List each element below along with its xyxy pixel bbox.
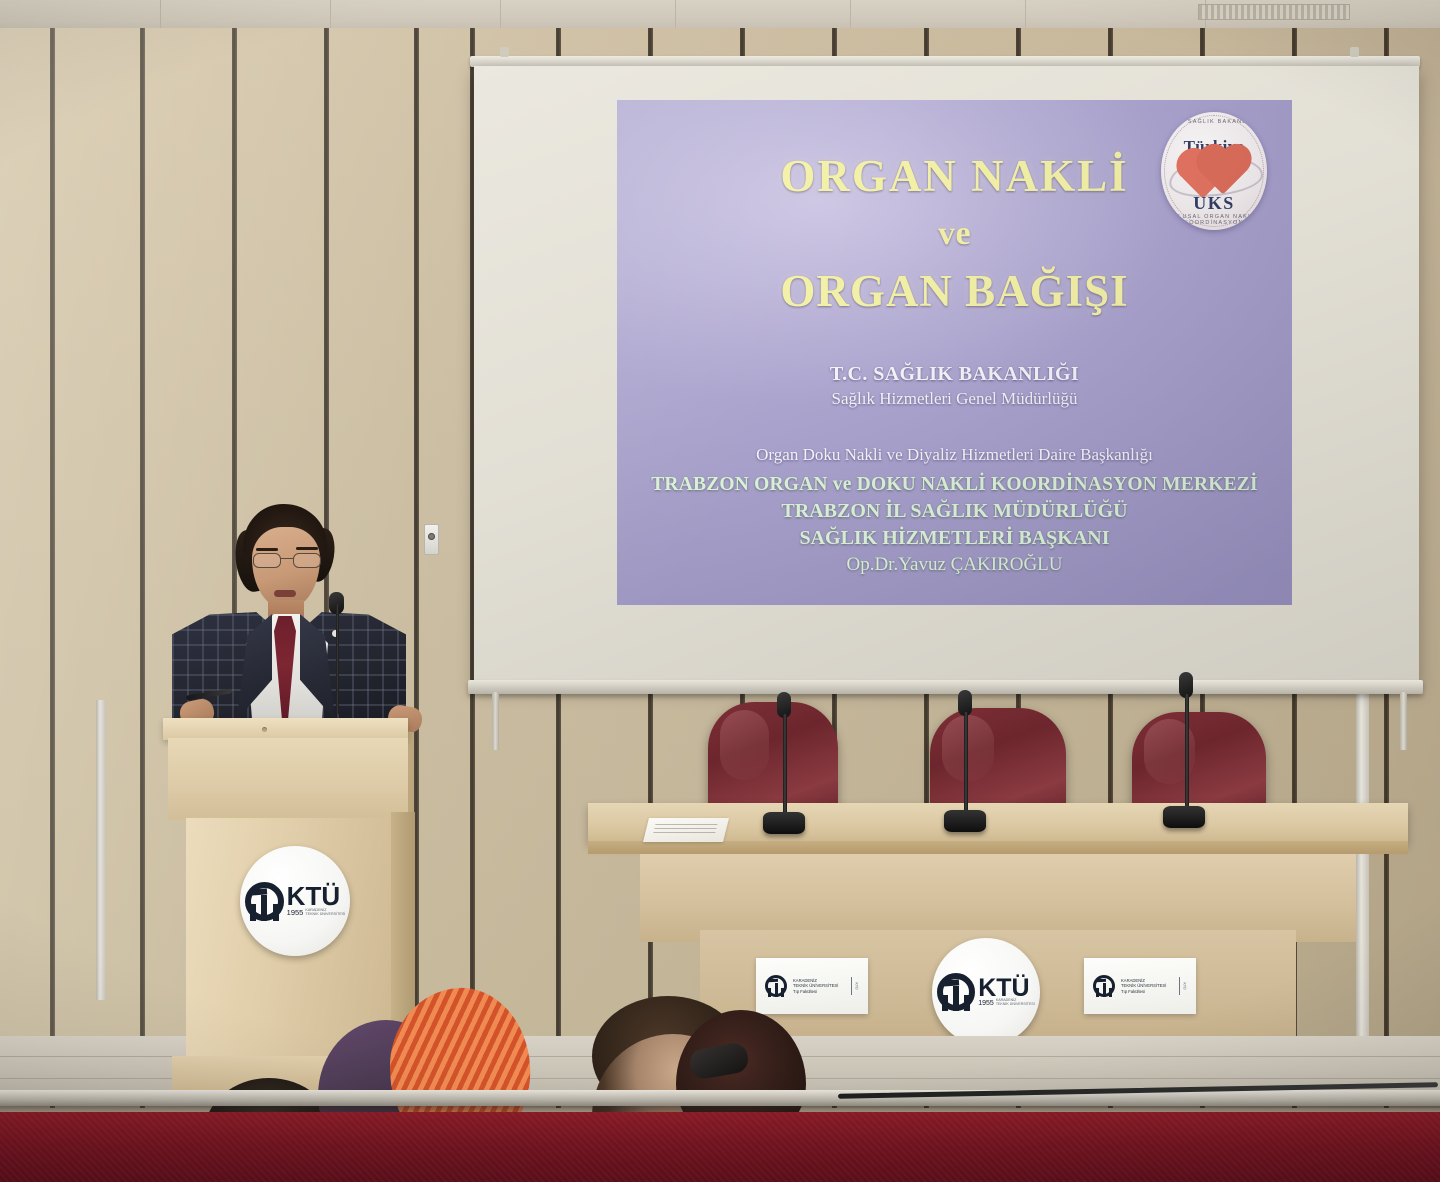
ktu-wordmark: KTÜ	[978, 977, 1035, 1000]
plaque-line-2: TEKNİK ÜNİVERSİTESİ	[1121, 983, 1166, 988]
stage-edge-strip	[0, 1090, 1440, 1106]
microphone-stem	[1185, 694, 1189, 812]
slide-green-line-1: TRABZON ORGAN ve DOKU NAKLİ KOORDİNASYON…	[617, 474, 1292, 496]
uks-arc-top-text: T.C. SAĞLIK BAKANLIĞI	[1161, 119, 1267, 125]
panel-table-bevel	[588, 841, 1408, 854]
speaker-eyebrow	[256, 548, 278, 551]
podium-upper-box	[168, 738, 408, 820]
eyeglasses-icon	[252, 553, 322, 566]
document-sheet	[643, 818, 729, 842]
slide-title-line-2: ve	[617, 215, 1292, 253]
ktu-logo-roundel-podium: KTÜ 1955 KARADENİZ TEKNİK ÜNİVERSİTESİ	[240, 846, 350, 956]
microphone-stem	[783, 714, 787, 820]
auditorium-presentation-photo: T.C. SAĞLIK BAKANLIĞI Türkiye UKS ULUSAL…	[0, 0, 1440, 1182]
slide-title-line-3: ORGAN BAĞIŞI	[617, 265, 1292, 317]
slide-green-line-3: SAĞLIK HİZMETLERİ BAŞKANI	[617, 527, 1292, 550]
ceiling-vent	[1198, 4, 1350, 20]
slide-green-line-2: TRABZON İL SAĞLIK MÜDÜRLÜĞÜ	[617, 500, 1292, 523]
slide-subtitle-department: Organ Doku Nakli ve Diyaliz Hizmetleri D…	[617, 445, 1292, 465]
slide-subtitle-ministry: T.C. SAĞLIK BAKANLIĞI	[617, 363, 1292, 386]
screen-support-arm	[492, 692, 499, 750]
wall-sensor-icon	[424, 524, 439, 555]
ktu-mark-icon	[937, 973, 975, 1011]
ktu-mark-icon	[1093, 975, 1115, 997]
projected-slide: T.C. SAĞLIK BAKANLIĞI Türkiye UKS ULUSAL…	[617, 100, 1292, 605]
podium-reading-ledge	[163, 718, 408, 740]
ktu-year: 1955	[287, 909, 304, 917]
slide-presenter-name: Op.Dr.Yavuz ÇAKIROĞLU	[617, 554, 1292, 576]
microphone-base	[1163, 806, 1205, 828]
ktu-tagline-2: TEKNİK ÜNİVERSİTESİ	[305, 913, 345, 917]
plaque-line-2: TEKNİK ÜNİVERSİTESİ	[793, 983, 838, 988]
screen-support-arm	[1400, 692, 1407, 750]
ktu-faculty-plaque-left: KARADENİZ TEKNİK ÜNİVERSİTESİ Tıp Fakült…	[756, 958, 868, 1014]
microphone-base	[944, 810, 986, 832]
ktu-mark-icon	[245, 882, 284, 921]
slide-title-line-1: ORGAN NAKLİ	[617, 150, 1292, 202]
red-carpet	[0, 1112, 1440, 1182]
speaker-mouth	[274, 590, 296, 597]
plaque-line-3: Tıp Fakültesi	[793, 989, 838, 994]
wall-trim-strip	[96, 700, 106, 1000]
ktu-year: 1955	[978, 1000, 994, 1007]
microphone-stem	[964, 712, 968, 816]
ktu-tagline-2: TEKNİK ÜNİVERSİTESİ	[996, 1003, 1035, 1007]
slide-subtitle-directorate: Sağlık Hizmetleri Genel Müdürlüğü	[617, 389, 1292, 409]
plaque-side-text: KTÜ	[1183, 983, 1187, 990]
microphone-base	[763, 812, 805, 834]
plaque-side-text: KTÜ	[855, 983, 859, 990]
ktu-wordmark: KTÜ	[287, 885, 346, 908]
projection-screen: T.C. SAĞLIK BAKANLIĞI Türkiye UKS ULUSAL…	[474, 66, 1419, 686]
screen-bottom-bar	[468, 680, 1423, 694]
ktu-faculty-plaque-right: KARADENİZ TEKNİK ÜNİVERSİTESİ Tıp Fakült…	[1084, 958, 1196, 1014]
plaque-line-3: Tıp Fakültesi	[1121, 989, 1166, 994]
podium-screw	[262, 727, 267, 732]
podium-microphone-stem	[336, 604, 339, 714]
ktu-mark-icon	[765, 975, 787, 997]
speaker-eyebrow	[296, 547, 318, 550]
ktu-logo-roundel-table: KTÜ 1955 KARADENİZ TEKNİK ÜNİVERSİTESİ	[932, 938, 1040, 1046]
panel-table-body	[640, 854, 1356, 942]
